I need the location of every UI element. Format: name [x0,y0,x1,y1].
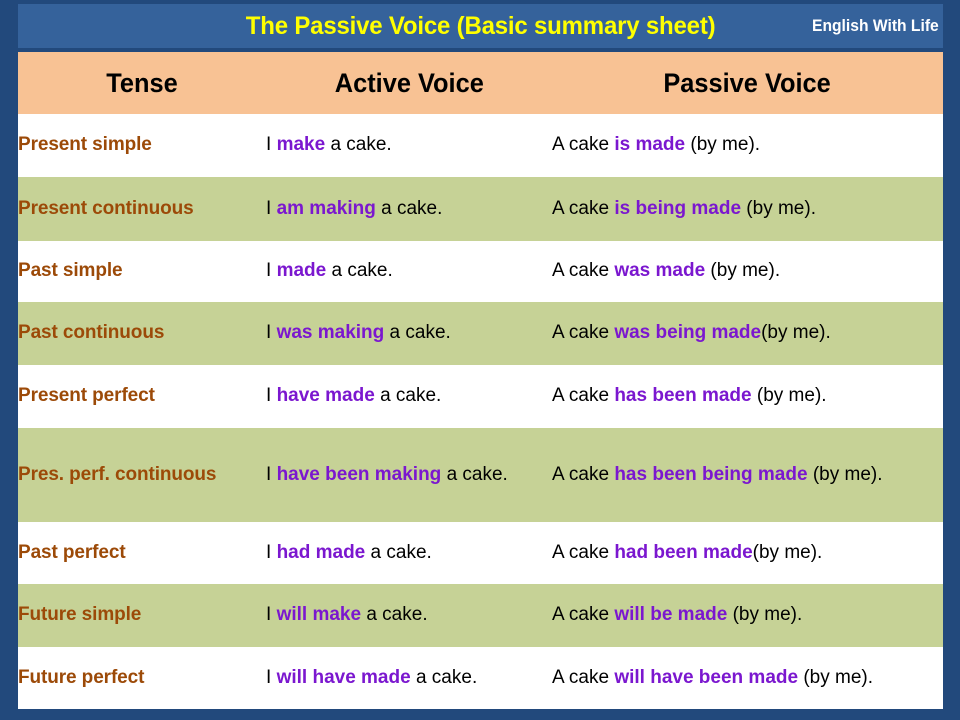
cell-passive-voice: A cake is being made (by me). [552,177,943,241]
column-header-active-voice: Active Voice [266,52,552,114]
cell-tense: Present perfect [18,365,266,428]
cell-passive-voice: A cake had been made(by me). [552,522,943,584]
tense-label: Past continuous [18,322,164,343]
cell-passive-voice: A cake was made (by me). [552,241,943,302]
passive-subject: A cake [552,667,614,688]
passive-object: (by me). [808,464,883,485]
active-sentence: I was making a cake. [266,322,451,343]
passive-verb-phrase: will be made [614,604,727,625]
passive-sentence: A cake has been made (by me). [552,385,827,406]
active-sentence: I make a cake. [266,134,392,155]
active-object: a cake. [441,464,508,485]
passive-verb-phrase: has been being made [614,464,807,485]
passive-object: (by me). [727,604,802,625]
active-object: a cake. [326,260,393,281]
cell-passive-voice: A cake has been being made (by me). [552,428,943,522]
passive-subject: A cake [552,260,614,281]
tense-label: Future perfect [18,667,144,688]
cell-active-voice: I make a cake. [266,114,552,177]
cell-passive-voice: A cake was being made(by me). [552,302,943,365]
active-verb-phrase: have made [277,385,375,406]
column-header-passive-voice-label: Passive Voice [664,68,831,99]
passive-sentence: A cake is being made (by me). [552,198,816,219]
cell-tense: Future simple [18,584,266,647]
cell-tense: Present continuous [18,177,266,241]
table-row: Present continuousI am making a cake.A c… [18,177,943,241]
table-row: Past simpleI made a cake.A cake was made… [18,241,943,302]
passive-object: (by me). [685,134,760,155]
column-header-tense-label: Tense [106,68,177,99]
passive-verb-phrase: was being made [614,322,761,343]
title-banner: The Passive Voice (Basic summary sheet) … [18,4,943,48]
passive-object: (by me). [798,667,873,688]
cell-active-voice: I will make a cake. [266,584,552,647]
cell-tense: Past simple [18,241,266,302]
column-header-active-voice-label: Active Voice [334,68,483,99]
cell-active-voice: I had made a cake. [266,522,552,584]
active-subject: I [266,667,277,688]
active-object: a cake. [376,198,443,219]
active-object: a cake. [384,322,451,343]
active-sentence: I have made a cake. [266,385,441,406]
cell-active-voice: I have made a cake. [266,365,552,428]
active-verb-phrase: make [277,134,326,155]
passive-sentence: A cake is made (by me). [552,134,760,155]
passive-sentence: A cake will be made (by me). [552,604,802,625]
active-verb-phrase: made [277,260,327,281]
passive-object: (by me). [741,198,816,219]
passive-sentence: A cake was made (by me). [552,260,780,281]
passive-sentence: A cake had been made(by me). [552,542,822,563]
tense-label: Pres. perf. continuous [18,464,216,485]
active-verb-phrase: have been making [277,464,442,485]
active-verb-phrase: am making [277,198,376,219]
active-subject: I [266,604,277,625]
active-sentence: I will make a cake. [266,604,428,625]
active-subject: I [266,322,277,343]
cell-tense: Past perfect [18,522,266,584]
passive-subject: A cake [552,385,614,406]
passive-subject: A cake [552,464,614,485]
cell-passive-voice: A cake has been made (by me). [552,365,943,428]
active-object: a cake. [375,385,442,406]
table-row: Past perfectI had made a cake.A cake had… [18,522,943,584]
active-object: a cake. [361,604,428,625]
tense-label: Present continuous [18,198,194,219]
cell-active-voice: I am making a cake. [266,177,552,241]
tense-label: Future simple [18,604,141,625]
active-object: a cake. [365,542,432,563]
tense-label: Present simple [18,134,152,155]
table-row: Future simpleI will make a cake.A cake w… [18,584,943,647]
cell-active-voice: I made a cake. [266,241,552,302]
cell-passive-voice: A cake will have been made (by me). [552,647,943,709]
active-sentence: I am making a cake. [266,198,442,219]
passive-subject: A cake [552,198,614,219]
tense-label: Past perfect [18,542,126,563]
active-verb-phrase: had made [277,542,366,563]
passive-voice-poster: The Passive Voice (Basic summary sheet) … [0,0,960,720]
active-verb-phrase: was making [277,322,385,343]
passive-subject: A cake [552,542,614,563]
table-row: Present perfectI have made a cake.A cake… [18,365,943,428]
table-row: Future perfectI will have made a cake.A … [18,647,943,709]
brand-label: English With Life [812,16,939,36]
passive-object: (by me). [761,322,831,343]
active-sentence: I have been making a cake. [266,464,508,485]
cell-active-voice: I was making a cake. [266,302,552,365]
cell-tense: Present simple [18,114,266,177]
passive-object: (by me). [705,260,780,281]
active-subject: I [266,260,277,281]
passive-verb-phrase: was made [614,260,705,281]
cell-passive-voice: A cake is made (by me). [552,114,943,177]
passive-sentence: A cake was being made(by me). [552,322,831,343]
cell-passive-voice: A cake will be made (by me). [552,584,943,647]
passive-object: (by me). [752,385,827,406]
table-header-row: Tense Active Voice Passive Voice [18,52,943,114]
cell-tense: Pres. perf. continuous [18,428,266,522]
column-header-tense: Tense [18,52,266,114]
passive-subject: A cake [552,134,614,155]
active-object: a cake. [325,134,392,155]
passive-sentence: A cake will have been made (by me). [552,667,873,688]
passive-verb-phrase: is made [614,134,685,155]
active-subject: I [266,198,277,219]
active-subject: I [266,134,277,155]
column-header-passive-voice: Passive Voice [552,52,943,114]
active-verb-phrase: will have made [277,667,411,688]
cell-active-voice: I will have made a cake. [266,647,552,709]
page-title: The Passive Voice (Basic summary sheet) [246,12,716,41]
active-subject: I [266,385,277,406]
active-verb-phrase: will make [277,604,362,625]
tense-label: Past simple [18,260,123,281]
passive-object: (by me). [753,542,823,563]
table-row: Pres. perf. continuousI have been making… [18,428,943,522]
cell-tense: Future perfect [18,647,266,709]
active-sentence: I made a cake. [266,260,393,281]
active-sentence: I had made a cake. [266,542,432,563]
cell-active-voice: I have been making a cake. [266,428,552,522]
active-subject: I [266,542,277,563]
passive-sentence: A cake has been being made (by me). [552,464,883,485]
passive-voice-table: Tense Active Voice Passive Voice Present… [18,52,943,709]
passive-verb-phrase: will have been made [614,667,798,688]
passive-verb-phrase: is being made [614,198,741,219]
tense-label: Present perfect [18,385,155,406]
table-row: Past continuousI was making a cake.A cak… [18,302,943,365]
passive-verb-phrase: has been made [614,385,751,406]
passive-subject: A cake [552,322,614,343]
passive-verb-phrase: had been made [614,542,752,563]
cell-tense: Past continuous [18,302,266,365]
table-body: Present simpleI make a cake.A cake is ma… [18,114,943,709]
active-subject: I [266,464,277,485]
active-object: a cake. [411,667,478,688]
active-sentence: I will have made a cake. [266,667,477,688]
passive-subject: A cake [552,604,614,625]
table-row: Present simpleI make a cake.A cake is ma… [18,114,943,177]
